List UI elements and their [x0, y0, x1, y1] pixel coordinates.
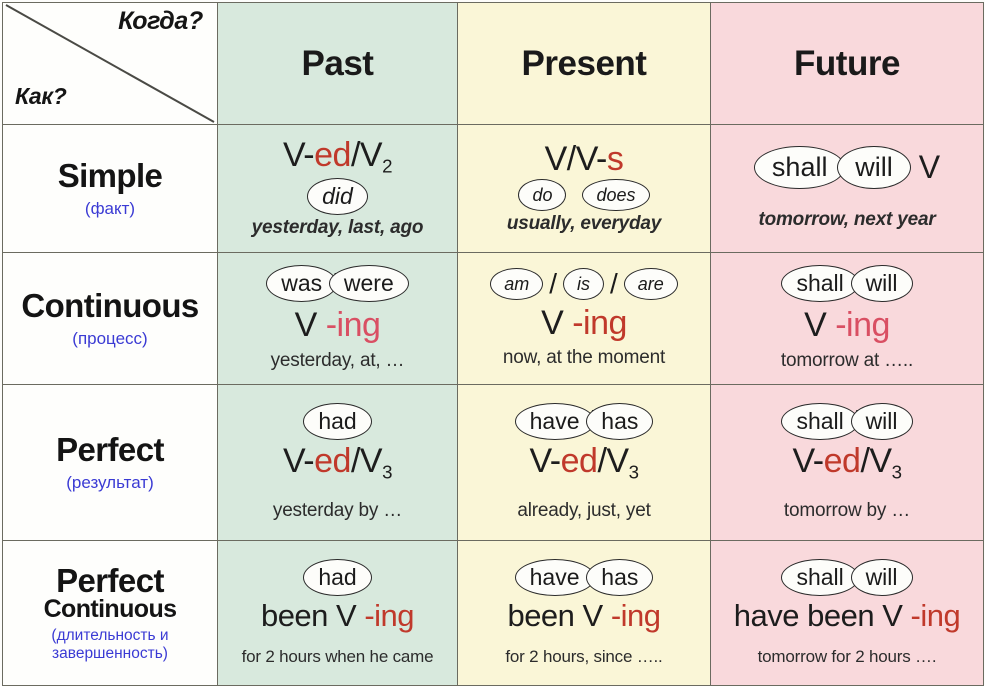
aspect-label-perfect: Perfect (результат) — [3, 385, 218, 541]
aux-oval-will: will — [837, 146, 911, 189]
markers-present-continuous: now, at the moment — [503, 347, 665, 369]
aux-oval-are: are — [624, 268, 678, 300]
aux-row-present-simple: do does — [518, 179, 649, 211]
aux-oval-do: do — [518, 179, 566, 211]
aux-oval-had: had — [303, 403, 371, 440]
aux-oval-had: had — [303, 559, 371, 596]
cell-past-perfect-continuous: had been V -ing for 2 hours when he came — [218, 541, 458, 686]
cell-past-continuous: was / were V -ing yesterday, at, … — [218, 253, 458, 385]
aux-oval-is: is — [563, 268, 604, 300]
aspect-label-perfect-continuous: Perfect Continuous (длительность и завер… — [3, 541, 218, 686]
corner-how-label: Как? — [15, 83, 66, 110]
column-header-past-label: Past — [302, 44, 374, 83]
column-header-past: Past — [218, 3, 458, 125]
formula-past-simple: V-ed/V2 — [283, 138, 392, 176]
cell-future-continuous: shall / will V -ing tomorrow at ….. — [711, 253, 984, 385]
cell-past-perfect: had V-ed/V3 yesterday by … — [218, 385, 458, 541]
aux-row-past-perfect-continuous: had — [303, 559, 371, 596]
aux-oval-does: does — [582, 179, 649, 211]
aux-row-past-continuous: was / were — [266, 265, 409, 302]
cell-future-perfect: shall / will V-ed/V3 tomorrow by … — [711, 385, 984, 541]
table-row-perfect: Perfect (результат) had V-ed/V3 yesterda… — [3, 385, 984, 541]
aspect-ru-continuous: (процесс) — [72, 329, 147, 349]
cell-present-perfect-continuous: have / has been V -ing for 2 hours, sinc… — [458, 541, 711, 686]
formula-past-continuous: V -ing — [295, 308, 381, 344]
table-row-perfect-continuous: Perfect Continuous (длительность и завер… — [3, 541, 984, 686]
aux-oval-will: will — [851, 559, 913, 596]
cell-present-perfect: have / has V-ed/V3 already, just, yet — [458, 385, 711, 541]
aux-oval-will: will — [851, 265, 913, 302]
column-header-future: Future — [711, 3, 984, 125]
formula-future-simple: V — [919, 149, 940, 186]
aux-row-present-perfect-continuous: have / has — [515, 559, 654, 596]
markers-future-perfect: tomorrow by … — [784, 500, 910, 522]
aux-row-future-simple: shall / will V — [754, 146, 940, 189]
aux-row-past-simple: did — [307, 178, 368, 215]
aspect-name-simple: Simple — [58, 159, 163, 193]
markers-present-perfect-continuous: for 2 hours, since ….. — [505, 647, 662, 667]
aux-oval-shall: shall — [781, 265, 858, 302]
aux-oval-has: has — [586, 559, 653, 596]
aux-oval-shall: shall — [781, 403, 858, 440]
aspect-ru-perfect: (результат) — [66, 473, 154, 493]
aspect-name-continuous: Continuous — [21, 289, 198, 323]
column-header-present-label: Present — [522, 44, 647, 83]
markers-past-simple: yesterday, last, ago — [252, 217, 424, 239]
cell-present-simple: V/V-s do does usually, everyday — [458, 125, 711, 253]
slash-separator: / — [610, 268, 618, 300]
formula-future-perfect-continuous: have been V -ing — [734, 600, 960, 633]
aspect-label-simple: Simple (факт) — [3, 125, 218, 253]
formula-present-perfect: V-ed/V3 — [530, 444, 639, 482]
markers-present-perfect: already, just, yet — [517, 500, 650, 522]
aspect-label-continuous: Continuous (процесс) — [3, 253, 218, 385]
table-row-continuous: Continuous (процесс) was / were V -ing y… — [3, 253, 984, 385]
markers-past-perfect-continuous: for 2 hours when he came — [242, 647, 434, 667]
formula-past-perfect-continuous: been V -ing — [261, 600, 414, 633]
tense-chart: Когда? Как? Past Present Future Simple (… — [0, 0, 985, 685]
aux-oval-were: were — [329, 265, 409, 302]
markers-future-simple: tomorrow, next year — [758, 209, 935, 231]
aux-oval-did: did — [307, 178, 368, 215]
aux-row-future-perfect: shall / will — [781, 403, 912, 440]
table-header-row: Когда? Как? Past Present Future — [3, 3, 984, 125]
markers-past-perfect: yesterday by … — [273, 500, 402, 522]
table-row-simple: Simple (факт) V-ed/V2 did yesterday, las… — [3, 125, 984, 253]
column-header-future-label: Future — [794, 44, 900, 83]
aux-row-past-perfect: had — [303, 403, 371, 440]
aux-oval-was: was — [266, 265, 337, 302]
aux-oval-have: have — [515, 559, 595, 596]
aux-oval-shall: shall — [754, 146, 846, 189]
cell-future-simple: shall / will V tomorrow, next year — [711, 125, 984, 253]
aux-oval-has: has — [586, 403, 653, 440]
aux-row-present-perfect: have / has — [515, 403, 654, 440]
markers-future-continuous: tomorrow at ….. — [781, 350, 913, 372]
formula-present-perfect-continuous: been V -ing — [507, 600, 660, 633]
formula-present-continuous: V -ing — [541, 306, 627, 342]
markers-future-perfect-continuous: tomorrow for 2 hours …. — [758, 647, 937, 667]
aspect-ru-simple: (факт) — [85, 199, 135, 219]
aux-row-future-continuous: shall / will — [781, 265, 912, 302]
aux-oval-shall: shall — [781, 559, 858, 596]
aux-row-future-perfect-continuous: shall / will — [781, 559, 912, 596]
column-header-present: Present — [458, 3, 711, 125]
formula-future-continuous: V -ing — [804, 308, 890, 344]
aspect-name-perfect: Perfect — [56, 564, 164, 598]
tense-table: Когда? Как? Past Present Future Simple (… — [2, 2, 984, 686]
cell-future-perfect-continuous: shall / will have been V -ing tomorrow f… — [711, 541, 984, 686]
aux-oval-am: am — [490, 268, 543, 300]
corner-when-label: Когда? — [118, 7, 203, 36]
markers-present-simple: usually, everyday — [507, 213, 661, 235]
formula-past-perfect: V-ed/V3 — [283, 444, 392, 482]
aspect-name-perfect: Perfect — [56, 433, 164, 467]
cell-past-simple: V-ed/V2 did yesterday, last, ago — [218, 125, 458, 253]
aspect-name-continuous: Continuous — [44, 597, 177, 623]
aux-row-present-continuous: am / is / are — [490, 268, 678, 300]
slash-separator: / — [549, 268, 557, 300]
formula-future-perfect: V-ed/V3 — [793, 444, 902, 482]
aux-oval-have: have — [515, 403, 595, 440]
aspect-ru-perfect-continuous: (длительность и завершенность) — [7, 627, 213, 663]
markers-past-continuous: yesterday, at, … — [271, 350, 405, 372]
aux-oval-will: will — [851, 403, 913, 440]
formula-present-simple: V/V-s — [545, 142, 624, 178]
cell-present-continuous: am / is / are V -ing now, at the moment — [458, 253, 711, 385]
corner-cell: Когда? Как? — [3, 3, 218, 125]
